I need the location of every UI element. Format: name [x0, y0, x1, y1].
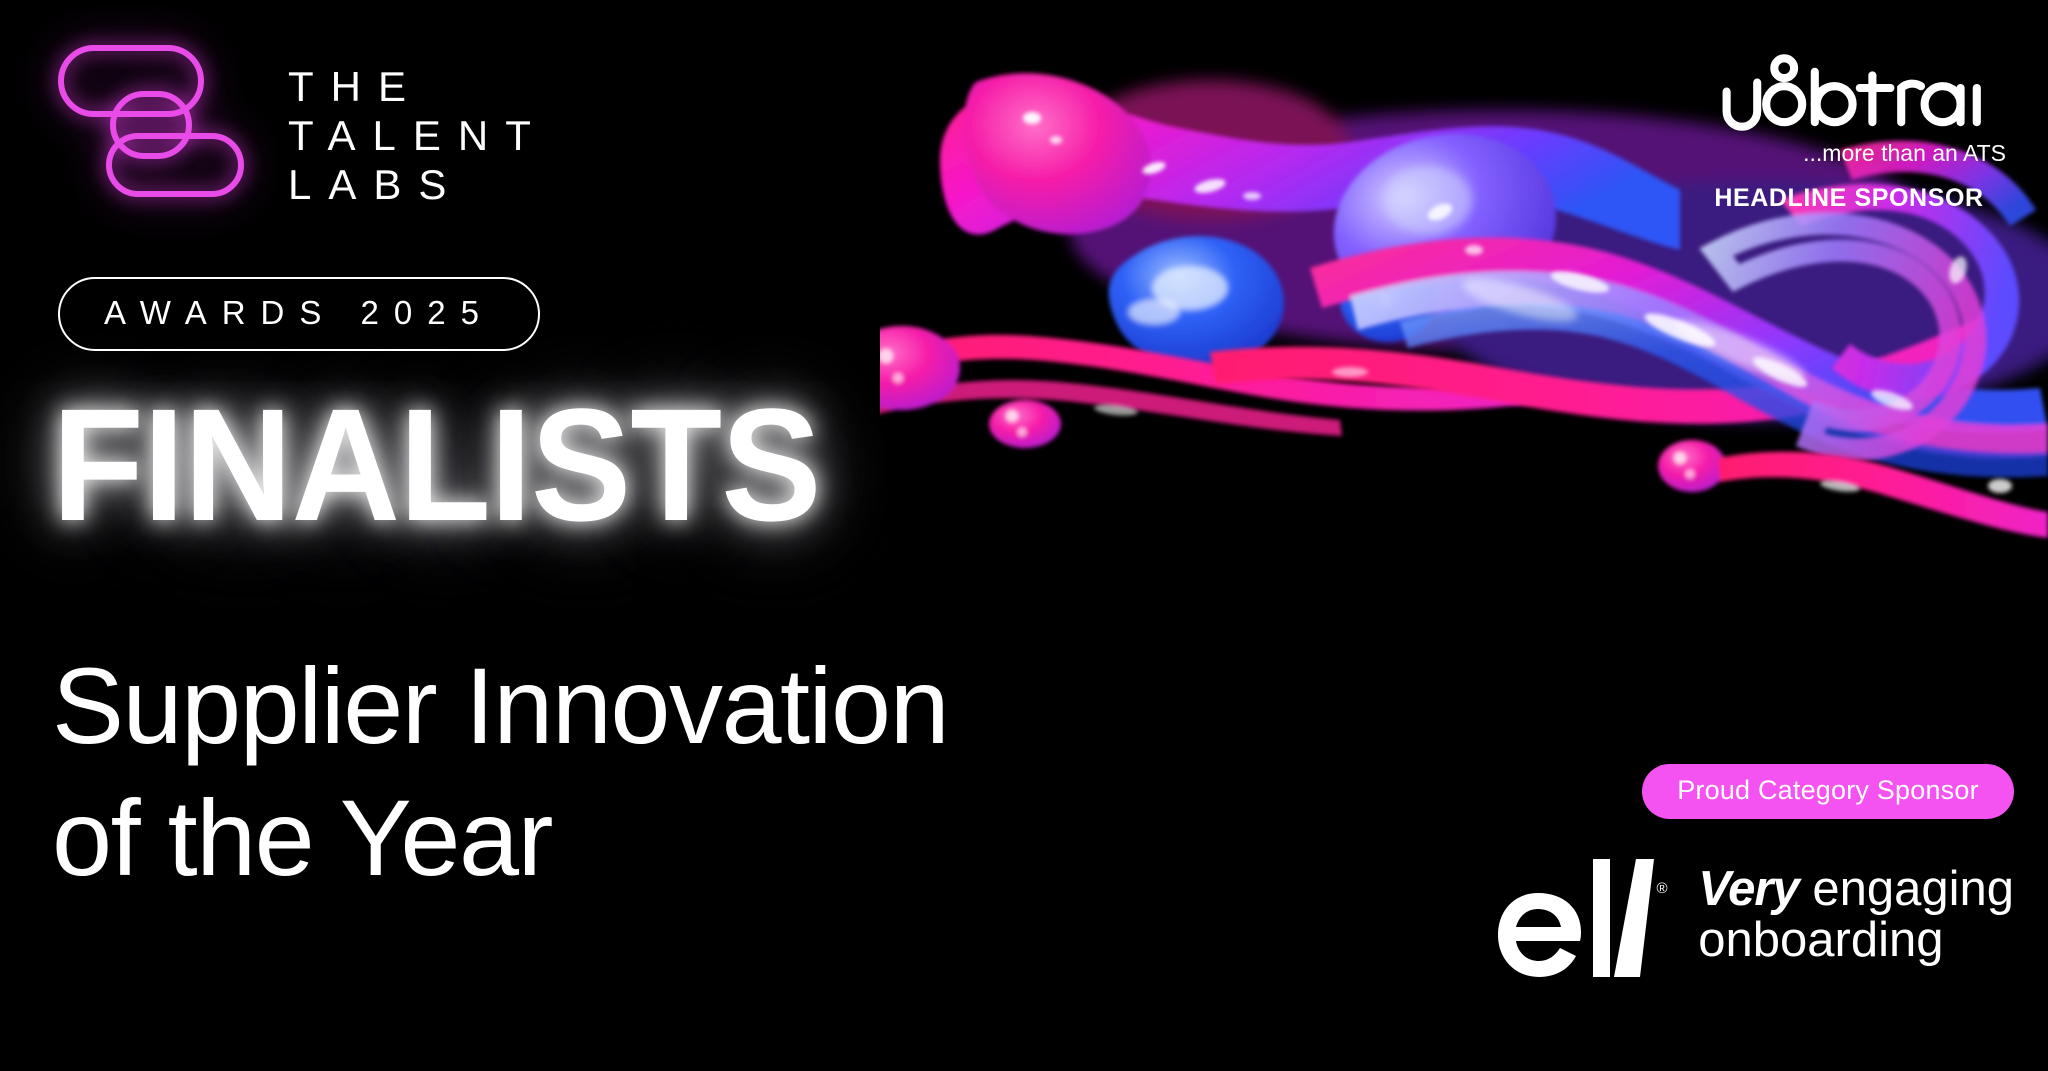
jobtrain-tagline: ...more than an ATS	[1684, 140, 2014, 167]
eli-lockup: ® Very engaging onboarding	[1534, 853, 2014, 981]
headline-sponsor-block: ...more than an ATS HEADLINE SPONSOR	[1684, 52, 2014, 213]
category-sponsor-pill: Proud Category Sponsor	[1642, 764, 2014, 819]
category-sponsor-pill-label: Proud Category Sponsor	[1677, 775, 1979, 805]
headline-sponsor-label: HEADLINE SPONSOR	[1684, 184, 2014, 213]
brand-line-talent: TALENT	[288, 111, 548, 160]
logo-mark-svg	[52, 36, 252, 206]
the-talent-labs-logo-mark	[52, 36, 252, 206]
brand-wordmark: THE TALENT LABS	[288, 36, 548, 209]
awards-badge: AWARDS 2025	[58, 277, 540, 351]
brand-lockup: THE TALENT LABS	[52, 36, 548, 209]
eli-tagline-line1: Very engaging	[1698, 864, 2014, 915]
category-title: Supplier Innovation of the Year	[52, 640, 948, 904]
brand-line-labs: LABS	[288, 160, 548, 209]
page-title: FINALISTS	[52, 385, 821, 545]
category-sponsor-block: Proud Category Sponsor ® Very eng	[1534, 764, 2014, 981]
registered-mark: ®	[1657, 880, 1668, 897]
poster-canvas: THE TALENT LABS AWARDS 2025 FINALISTS Su…	[0, 0, 2048, 1071]
brand-line-the: THE	[288, 62, 548, 111]
eli-logo: ®	[1494, 853, 1672, 981]
eli-tagline-rest: engaging	[1799, 862, 2014, 916]
jobtrain-logo	[1714, 52, 1984, 138]
awards-badge-label: AWARDS 2025	[104, 294, 494, 331]
eli-tagline-accent: Very	[1698, 862, 1798, 916]
eli-tagline-line2: onboarding	[1698, 915, 2014, 966]
eli-logo-svg: ®	[1494, 853, 1672, 981]
eli-tagline: Very engaging onboarding	[1698, 864, 2014, 970]
